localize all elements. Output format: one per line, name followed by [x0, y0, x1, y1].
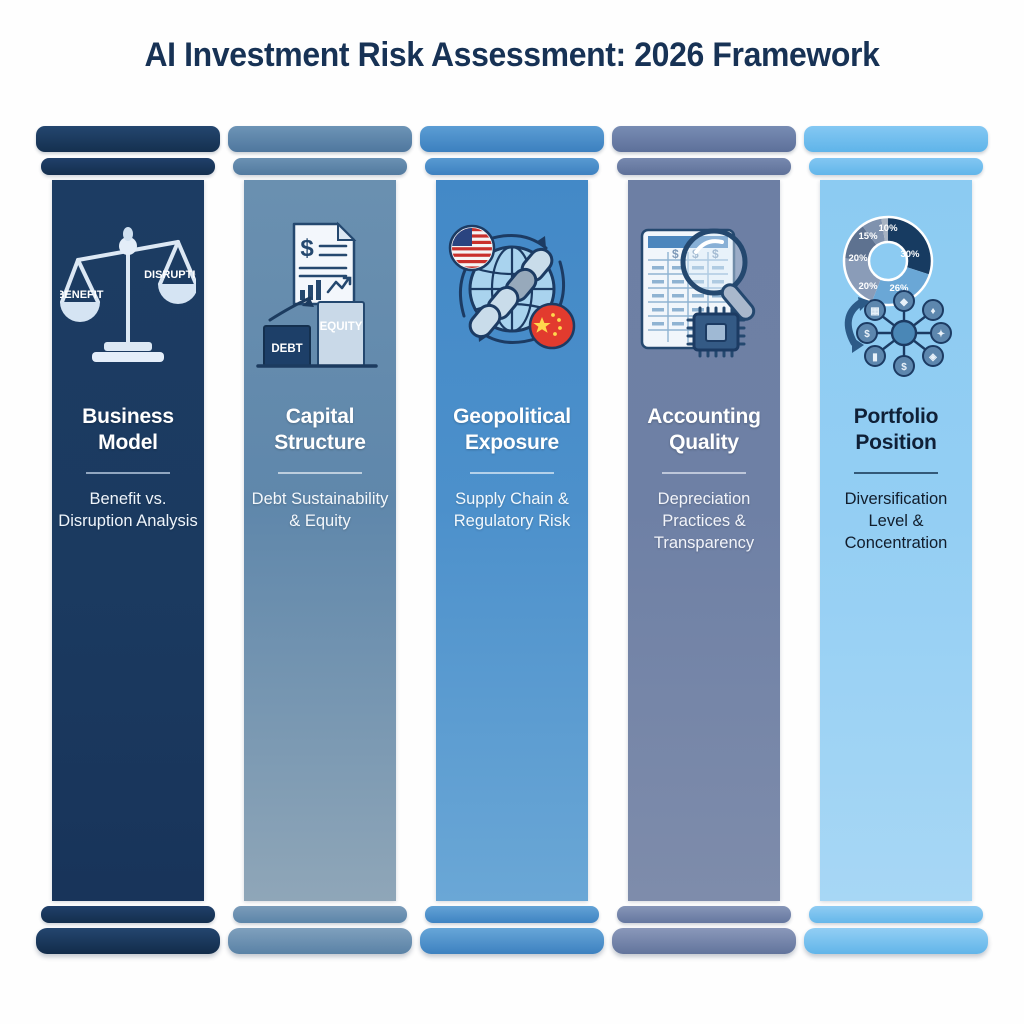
infographic-canvas: AI Investment Risk Assessment: 2026 Fram…	[0, 0, 1024, 1024]
svg-text:$: $	[901, 362, 907, 373]
pillar-shaft: 30% 26% 20% 20% 15% 10%	[820, 180, 972, 901]
pillar-divider	[86, 472, 170, 474]
pillar-capital-top	[420, 126, 604, 152]
us-flag-icon	[450, 226, 494, 270]
pillar-row: BENEFIT DISRUPTION Business Model Benefi…	[36, 126, 988, 954]
pillar-title: Accounting Quality	[632, 404, 776, 456]
pillar-capital-band	[809, 158, 983, 175]
scale-label-disruption: DISRUPTION	[144, 269, 196, 281]
debt-equity-chart-icon: $	[250, 206, 390, 386]
donut-label-3: 20%	[848, 253, 868, 264]
pillar-subtitle: Depreciation Practices & Transparency	[631, 488, 777, 554]
pillar-base-band	[617, 906, 791, 923]
china-flag-icon	[530, 304, 574, 348]
svg-text:♦: ♦	[930, 306, 935, 317]
pillar-business-model[interactable]: BENEFIT DISRUPTION Business Model Benefi…	[36, 126, 220, 954]
donut-diversification-icon: 30% 26% 20% 20% 15% 10%	[826, 206, 966, 386]
pillar-subtitle: Diversification Level & Concentration	[823, 488, 969, 554]
pillar-capital-structure[interactable]: $	[228, 126, 412, 954]
svg-text:$: $	[672, 247, 679, 261]
pillar-capital-band	[41, 158, 215, 175]
svg-text:▮: ▮	[872, 352, 878, 363]
pillar-title: Capital Structure	[248, 404, 392, 456]
pillar-capital-top	[228, 126, 412, 152]
pillar-title: Portfolio Position	[824, 404, 968, 456]
pillar-subtitle: Debt Sustainability & Equity	[247, 488, 393, 532]
donut-label-5: 10%	[878, 223, 898, 234]
svg-text:✦: ✦	[937, 329, 945, 340]
donut-label-4: 15%	[858, 231, 878, 242]
pillar-base	[612, 928, 796, 954]
cpu-chip-icon	[688, 308, 744, 356]
donut-label-2: 20%	[858, 281, 878, 292]
pillar-shaft: $ $ $	[628, 180, 780, 901]
pillar-title: Geopolitical Exposure	[440, 404, 584, 456]
pillar-capital-top	[36, 126, 220, 152]
dollar-glyph: $	[300, 235, 314, 262]
pillar-geopolitical-exposure[interactable]: Geopolitical Exposure Supply Chain & Reg…	[420, 126, 604, 954]
pillar-accounting-quality[interactable]: $ $ $	[612, 126, 796, 954]
pillar-base	[36, 928, 220, 954]
svg-text:◈: ◈	[928, 352, 937, 363]
pillar-divider	[278, 472, 362, 474]
pillar-capital-top	[612, 126, 796, 152]
spreadsheet-magnifier-chip-icon: $ $ $	[634, 206, 774, 386]
pillar-subtitle: Supply Chain & Regulatory Risk	[439, 488, 585, 532]
pillar-divider	[662, 472, 746, 474]
pillar-divider	[470, 472, 554, 474]
pillar-capital-band	[617, 158, 791, 175]
pillar-title: Business Model	[56, 404, 200, 456]
pillar-capital-band	[425, 158, 599, 175]
pillar-base-band	[809, 906, 983, 923]
pillar-divider	[854, 472, 938, 474]
svg-text:▦: ▦	[870, 306, 879, 317]
scale-label-benefit: BENEFIT	[60, 289, 104, 301]
pillar-shaft: Geopolitical Exposure Supply Chain & Reg…	[436, 180, 588, 901]
donut-label-0: 30%	[900, 249, 920, 260]
pillar-shaft: $	[244, 180, 396, 901]
balance-scale-icon: BENEFIT DISRUPTION	[58, 206, 198, 386]
pillar-capital-band	[233, 158, 407, 175]
page-title: AI Investment Risk Assessment: 2026 Fram…	[31, 36, 994, 75]
pillar-base	[804, 928, 988, 954]
pillar-subtitle: Benefit vs. Disruption Analysis	[55, 488, 201, 532]
pillar-base-band	[233, 906, 407, 923]
pillar-base-band	[425, 906, 599, 923]
pillar-shaft: BENEFIT DISRUPTION Business Model Benefi…	[52, 180, 204, 901]
svg-text:$: $	[864, 329, 870, 340]
pillar-base	[228, 928, 412, 954]
globe-supply-chain-icon	[442, 206, 582, 386]
bar-label-debt: DEBT	[271, 343, 302, 355]
svg-text:◆: ◆	[899, 297, 908, 308]
bar-label-equity: EQUITY	[320, 321, 363, 333]
pillar-portfolio-position[interactable]: 30% 26% 20% 20% 15% 10%	[804, 126, 988, 954]
pillar-base	[420, 928, 604, 954]
pillar-capital-top	[804, 126, 988, 152]
diversification-hub: $ $ ◆ ♦ ✦ ◈ ▮ ▦	[848, 291, 951, 376]
donut-chart: 30% 26% 20% 20% 15% 10%	[844, 217, 932, 305]
pillar-base-band	[41, 906, 215, 923]
